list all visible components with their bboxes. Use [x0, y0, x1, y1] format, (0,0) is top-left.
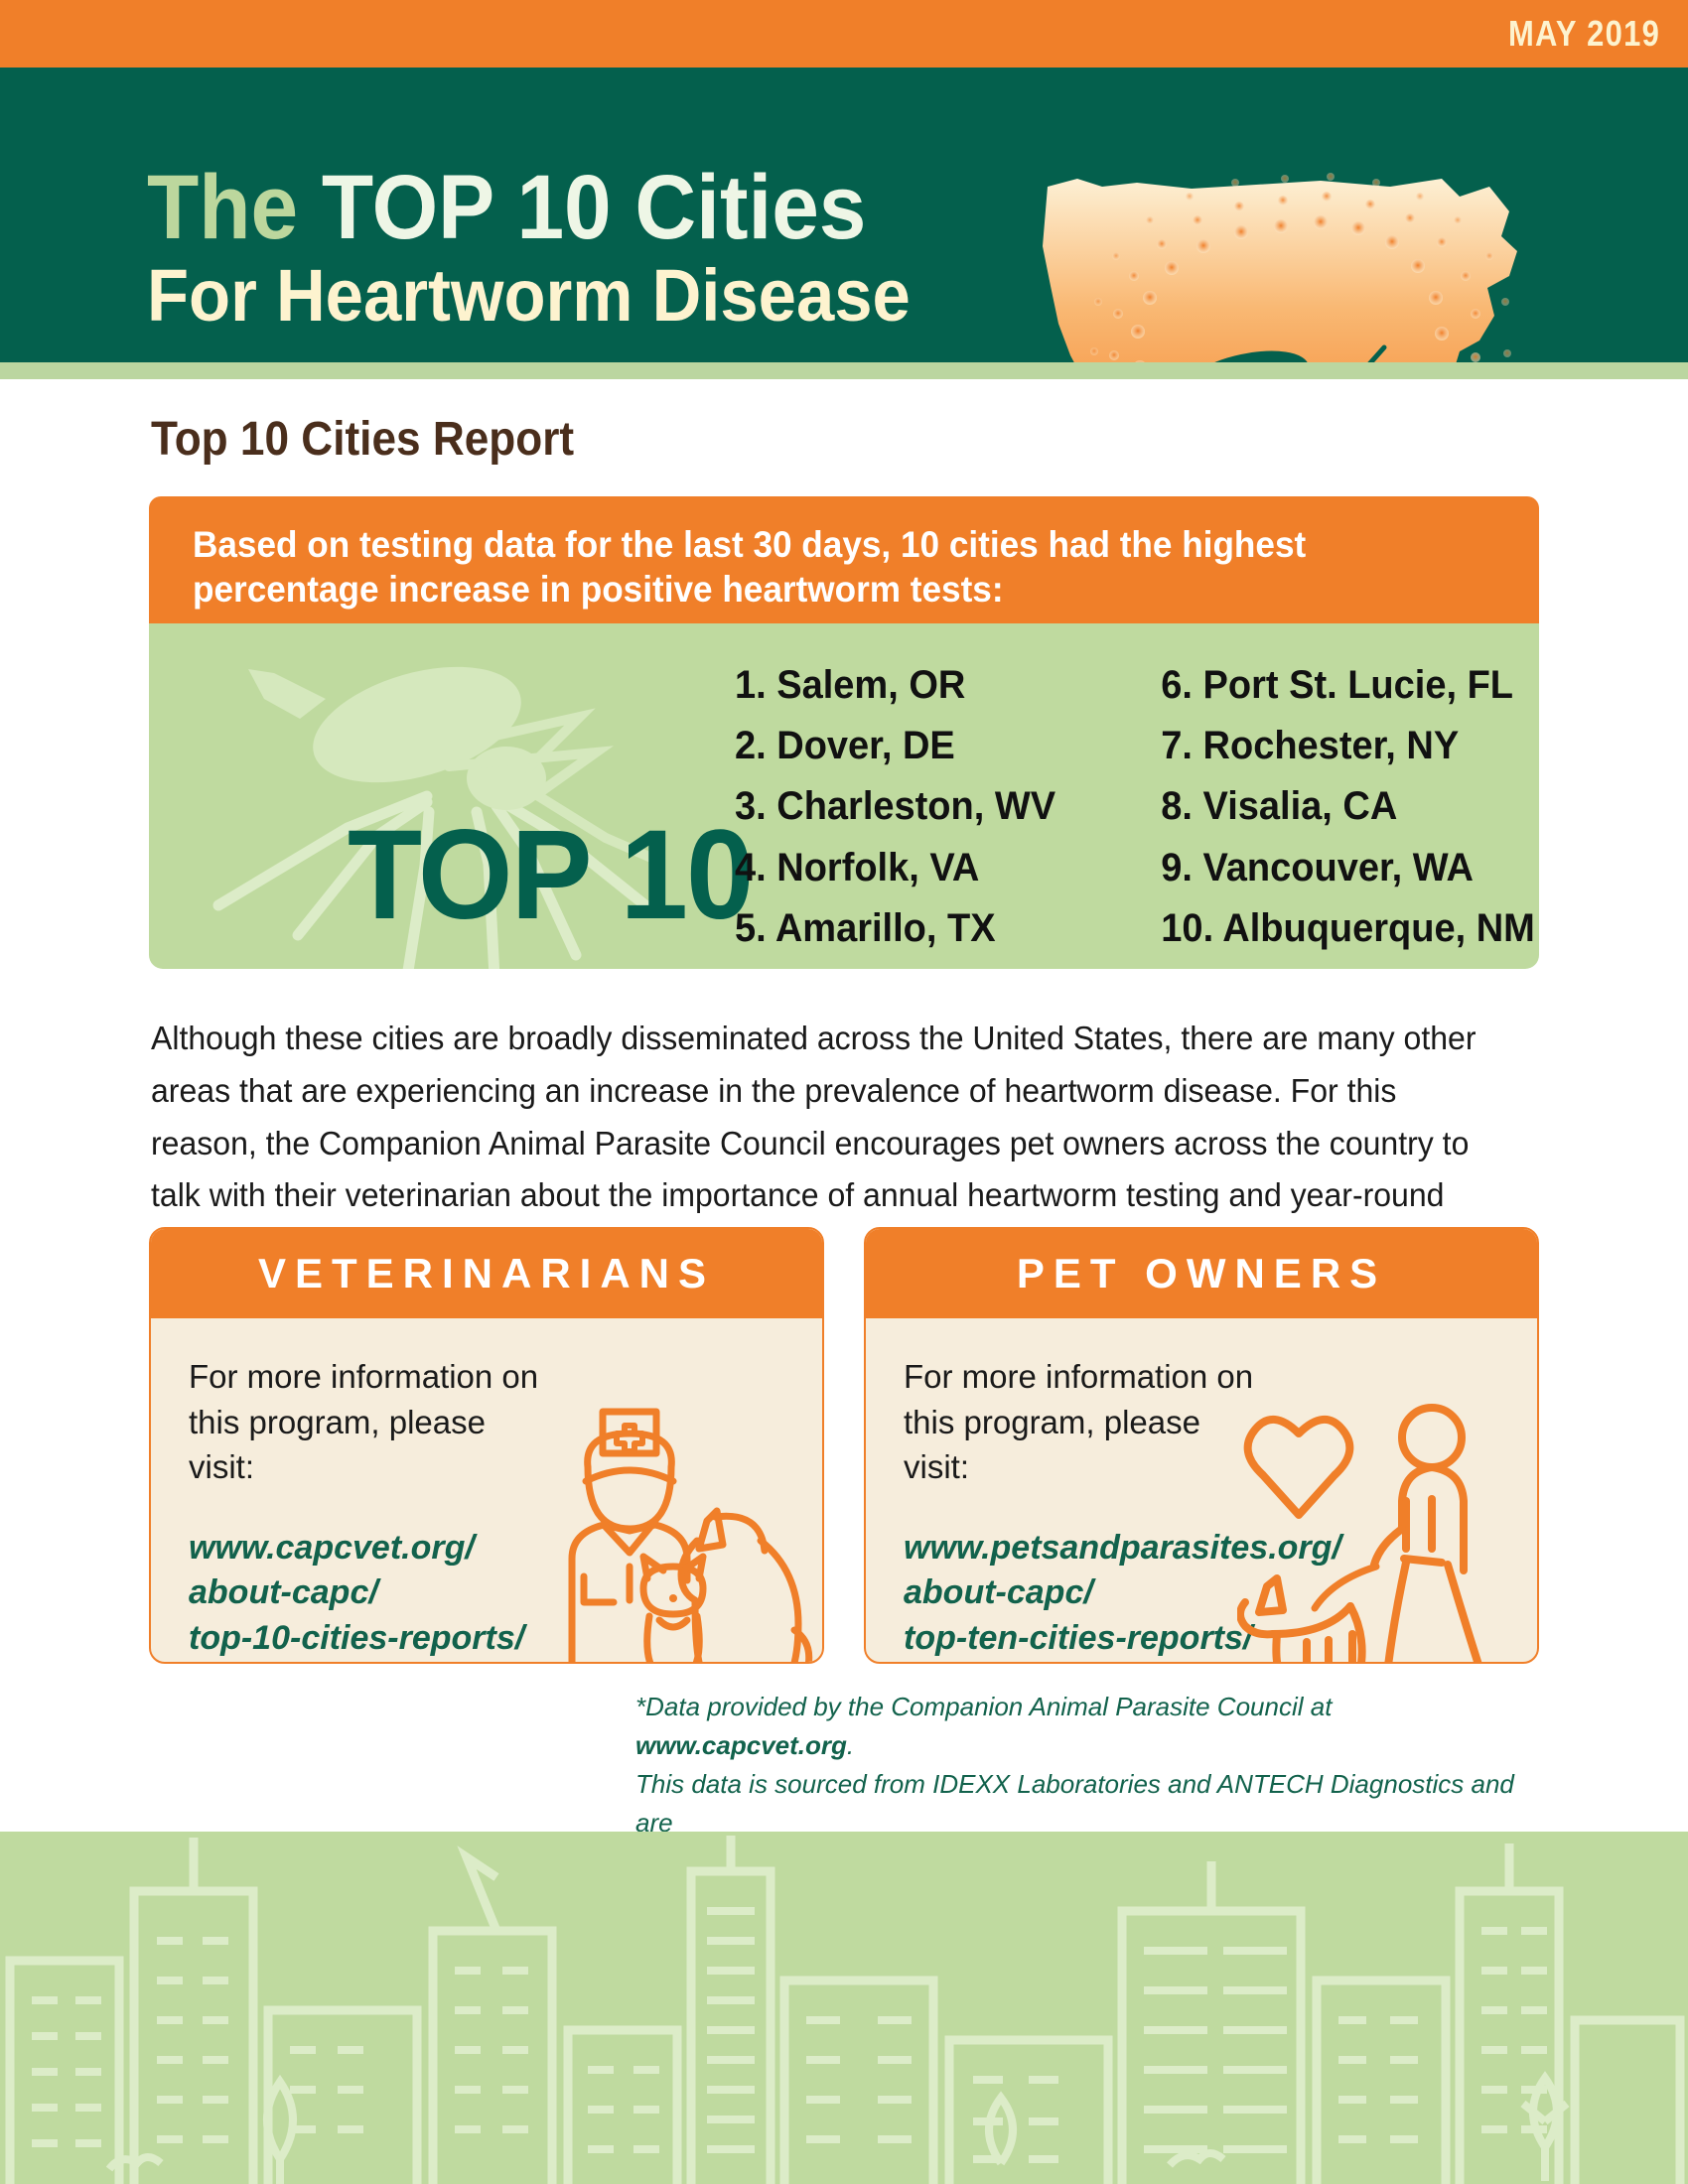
callout-text: Based on testing data for the last 30 da… — [193, 522, 1430, 612]
cityscape-band: CAPC Companion Animal Parasite Council® — [0, 1832, 1688, 2184]
veterinarians-card-header: VETERINARIANS — [151, 1229, 822, 1318]
infographic-page: MAY 2019 The TOP 10 Cities For Heartworm… — [0, 0, 1688, 2184]
pet-owners-card-header: PET OWNERS — [866, 1229, 1537, 1318]
veterinarians-intro: For more information on this program, pl… — [189, 1354, 546, 1490]
header-accent-strip — [0, 362, 1688, 379]
pet-owners-intro: For more information on this program, pl… — [904, 1354, 1261, 1490]
title-top10cities: TOP 10 Cities — [322, 157, 866, 258]
title-subtitle: For Heartworm Disease — [147, 260, 911, 333]
title-the: The — [147, 157, 322, 258]
list-item: 9. Vancouver, WA — [1148, 838, 1487, 898]
page-title: The TOP 10 Cities For Heartworm Disease — [147, 163, 911, 333]
list-item: 2. Dover, DE — [735, 716, 1074, 776]
list-item: 7. Rochester, NY — [1148, 716, 1487, 776]
list-item: 6. Port St. Lucie, FL — [1148, 655, 1487, 716]
city-column-right: 6. Port St. Lucie, FL 7. Rochester, NY 8… — [1148, 655, 1505, 959]
city-columns: 1. Salem, OR 2. Dover, DE 3. Charleston,… — [735, 655, 1519, 959]
issue-date: MAY 2019 — [1508, 13, 1660, 55]
pet-owners-card[interactable]: PET OWNERS For more information on this … — [864, 1227, 1539, 1664]
audience-cards: VETERINARIANS For more information on th… — [149, 1227, 1539, 1664]
veterinarians-card-body: For more information on this program, pl… — [151, 1318, 822, 1664]
pet-owners-card-body: For more information on this program, pl… — [866, 1318, 1537, 1664]
list-item: 1. Salem, OR — [735, 655, 1074, 716]
veterinarians-card[interactable]: VETERINARIANS For more information on th… — [149, 1227, 824, 1664]
heart-icon — [1248, 1420, 1350, 1515]
list-item: 4. Norfolk, VA — [735, 838, 1074, 898]
list-item: 5. Amarillo, TX — [735, 898, 1074, 959]
callout-banner: Based on testing data for the last 30 da… — [149, 496, 1539, 623]
skyline-graphic — [0, 1832, 1688, 2184]
top10-list-panel: TOP 10 1. Salem, OR 2. Dover, DE 3. Char… — [149, 623, 1539, 969]
header-banner: The TOP 10 Cities For Heartworm Disease — [0, 68, 1688, 362]
pet-owner-walking-dog-icon — [1237, 1382, 1535, 1664]
footnote-suffix: . — [847, 1730, 854, 1760]
city-column-left: 1. Salem, OR 2. Dover, DE 3. Charleston,… — [735, 655, 1092, 959]
list-item: 10. Albuquerque, NM — [1148, 898, 1487, 959]
footnote-url[interactable]: www.capcvet.org — [635, 1730, 847, 1760]
page-section-title: Top 10 Cities Report — [151, 412, 574, 467]
top-date-bar: MAY 2019 — [0, 0, 1688, 68]
pet-owners-heading: PET OWNERS — [1017, 1250, 1386, 1297]
veterinarian-with-pets-icon — [548, 1382, 816, 1664]
list-item: 8. Visalia, CA — [1148, 776, 1487, 837]
veterinarians-heading: VETERINARIANS — [258, 1250, 715, 1297]
footnote-line-1: *Data provided by the Companion Animal P… — [635, 1688, 1529, 1765]
list-item: 3. Charleston, WV — [735, 776, 1074, 837]
top10-badge: TOP 10 — [348, 802, 752, 948]
footnote-prefix: *Data provided by the Companion Animal P… — [635, 1692, 1332, 1721]
us-map-mosquito-graphic — [993, 157, 1549, 362]
